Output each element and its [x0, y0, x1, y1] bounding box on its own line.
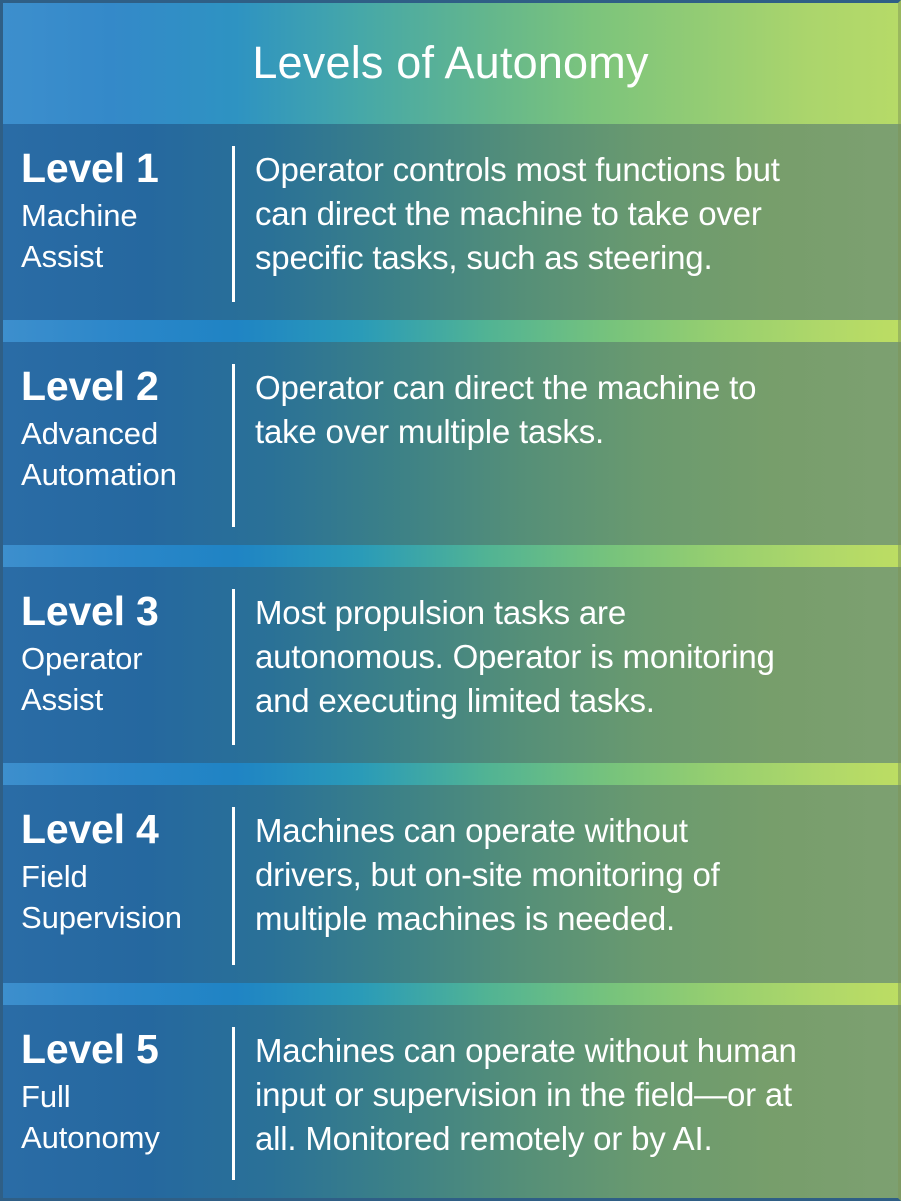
level-1-desc-line-2: can direct the machine to take over [255, 192, 884, 236]
level-4-subtitle: Field Supervision [21, 857, 224, 939]
level-4-desc-line-3: multiple machines is needed. [255, 897, 884, 941]
level-2-description: Operator can direct the machine to take … [255, 366, 884, 454]
level-row-4: Level 4 Field Supervision Machines can o… [0, 785, 901, 983]
level-5-subtitle-line-2: Autonomy [21, 1118, 224, 1159]
level-3-title: Level 3 [21, 591, 224, 633]
level-1-desc-line-1: Operator controls most functions but [255, 148, 884, 192]
level-1-label-column: Level 1 Machine Assist [3, 124, 232, 278]
separator-strip-1 [0, 320, 901, 342]
level-2-description-column: Operator can direct the machine to take … [235, 342, 898, 454]
separator-strip-3 [0, 763, 901, 785]
level-5-desc-line-1: Machines can operate without human [255, 1029, 884, 1073]
level-1-description: Operator controls most functions but can… [255, 148, 884, 280]
level-2-subtitle-line-2: Automation [21, 455, 224, 496]
level-4-label-column: Level 4 Field Supervision [3, 785, 232, 939]
level-1-description-column: Operator controls most functions but can… [235, 124, 898, 280]
level-3-subtitle-line-2: Assist [21, 680, 224, 721]
level-5-desc-line-3: all. Monitored remotely or by AI. [255, 1117, 884, 1161]
separator-strip-2 [0, 545, 901, 567]
level-5-description: Machines can operate without human input… [255, 1029, 884, 1161]
level-3-subtitle-line-1: Operator [21, 639, 224, 680]
level-3-desc-line-1: Most propulsion tasks are [255, 591, 884, 635]
separator-strip-4 [0, 983, 901, 1005]
header-banner: Levels of Autonomy [0, 0, 901, 124]
level-1-desc-line-3: specific tasks, such as steering. [255, 236, 884, 280]
level-2-subtitle-line-1: Advanced [21, 414, 224, 455]
level-2-desc-line-1: Operator can direct the machine to [255, 366, 884, 410]
level-2-desc-line-2: take over multiple tasks. [255, 410, 884, 454]
level-4-title: Level 4 [21, 809, 224, 851]
level-3-desc-line-2: autonomous. Operator is monitoring [255, 635, 884, 679]
level-3-description-column: Most propulsion tasks are autonomous. Op… [235, 567, 898, 723]
level-row-1: Level 1 Machine Assist Operator controls… [0, 124, 901, 320]
level-3-subtitle: Operator Assist [21, 639, 224, 721]
level-2-title: Level 2 [21, 366, 224, 408]
level-4-description-column: Machines can operate without drivers, bu… [235, 785, 898, 941]
level-4-subtitle-line-2: Supervision [21, 898, 224, 939]
level-5-description-column: Machines can operate without human input… [235, 1005, 898, 1161]
level-1-subtitle-line-1: Machine [21, 196, 224, 237]
level-5-title: Level 5 [21, 1029, 224, 1071]
level-2-subtitle: Advanced Automation [21, 414, 224, 496]
level-3-desc-line-3: and executing limited tasks. [255, 679, 884, 723]
level-4-description: Machines can operate without drivers, bu… [255, 809, 884, 941]
level-1-title: Level 1 [21, 148, 224, 190]
page-title: Levels of Autonomy [252, 40, 648, 87]
level-4-desc-line-1: Machines can operate without [255, 809, 884, 853]
levels-of-autonomy-infographic: Levels of Autonomy Level 1 Machine Assis… [0, 0, 901, 1201]
level-5-subtitle-line-1: Full [21, 1077, 224, 1118]
level-3-description: Most propulsion tasks are autonomous. Op… [255, 591, 884, 723]
level-5-label-column: Level 5 Full Autonomy [3, 1005, 232, 1159]
level-5-desc-line-2: input or supervision in the field—or at [255, 1073, 884, 1117]
level-2-label-column: Level 2 Advanced Automation [3, 342, 232, 496]
level-4-desc-line-2: drivers, but on-site monitoring of [255, 853, 884, 897]
level-3-label-column: Level 3 Operator Assist [3, 567, 232, 721]
level-1-subtitle-line-2: Assist [21, 237, 224, 278]
level-row-5: Level 5 Full Autonomy Machines can opera… [0, 1005, 901, 1201]
level-row-2: Level 2 Advanced Automation Operator can… [0, 342, 901, 545]
level-row-3: Level 3 Operator Assist Most propulsion … [0, 567, 901, 763]
level-5-subtitle: Full Autonomy [21, 1077, 224, 1159]
level-4-subtitle-line-1: Field [21, 857, 224, 898]
level-1-subtitle: Machine Assist [21, 196, 224, 278]
